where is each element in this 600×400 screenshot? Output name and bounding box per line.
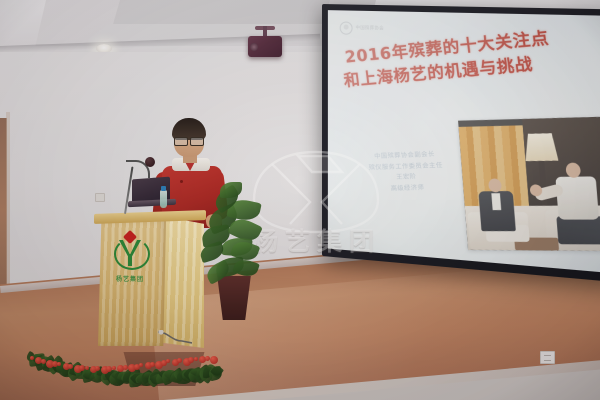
photo-person-left-head bbox=[488, 179, 502, 193]
flower-bloom bbox=[205, 356, 210, 361]
plant-pot bbox=[214, 276, 254, 320]
glasses-icon bbox=[174, 137, 204, 144]
wall-socket-left bbox=[95, 193, 105, 202]
photo-person-right-body bbox=[555, 176, 599, 219]
flower-bloom bbox=[194, 357, 198, 361]
projector bbox=[248, 26, 284, 58]
flower-bloom bbox=[210, 356, 218, 364]
presenter-shirt-button bbox=[180, 180, 183, 183]
ceiling-coffer-inner bbox=[113, 0, 330, 24]
flower-bloom bbox=[166, 359, 170, 363]
photo-person-right-hand bbox=[530, 184, 543, 196]
projector-lens-icon bbox=[250, 43, 258, 51]
projection-screen: 中国殡葬协会 2016年殡葬的十大关注点 和上海杨艺的机遇与挑战 中国殡葬协会副… bbox=[322, 4, 600, 283]
water-bottle bbox=[160, 190, 167, 208]
slide-interview-photo bbox=[458, 117, 600, 251]
photo-person-right-head bbox=[565, 163, 581, 178]
slide-surface: 中国殡葬协会 2016年殡葬的十大关注点 和上海杨艺的机遇与挑战 中国殡葬协会副… bbox=[328, 10, 600, 273]
flower-bloom bbox=[30, 356, 34, 360]
photo-person-left-shirt bbox=[491, 193, 501, 210]
water-bottle-cap bbox=[161, 186, 166, 191]
byline-line-4: 高级经济师 bbox=[367, 182, 450, 195]
flower-bloom bbox=[123, 365, 128, 370]
flower-bloom bbox=[177, 358, 182, 363]
plant-leaf bbox=[220, 182, 242, 198]
association-logo-icon bbox=[340, 21, 353, 34]
flower-bloom bbox=[85, 366, 89, 370]
slide-corner-logo: 中国殡葬协会 bbox=[340, 20, 398, 36]
potted-plant-right bbox=[198, 180, 268, 330]
flower-bloom bbox=[112, 366, 116, 370]
association-logo-wordmark: 中国殡葬协会 bbox=[356, 25, 384, 32]
flower-bloom bbox=[139, 363, 143, 367]
flower-bloom bbox=[41, 359, 46, 364]
photo-person-right-legs bbox=[556, 216, 600, 244]
podium-emblem-icon bbox=[110, 230, 150, 270]
wall-socket-right bbox=[540, 351, 555, 364]
podium-logo-text: 杨艺集团 bbox=[104, 274, 156, 283]
slide-byline: 中国殡葬协会副会长 殡仪服务工作委员会主任 王宏阶 高级经济师 bbox=[364, 149, 450, 195]
flower-arrangement bbox=[26, 318, 216, 396]
presentation-room-photo: 中国殡葬协会 2016年殡葬的十大关注点 和上海杨艺的机遇与挑战 中国殡葬协会副… bbox=[0, 0, 600, 400]
podium-emblem-stem bbox=[128, 254, 132, 266]
microphone-head-icon bbox=[145, 157, 155, 167]
flower-bloom bbox=[150, 362, 155, 367]
